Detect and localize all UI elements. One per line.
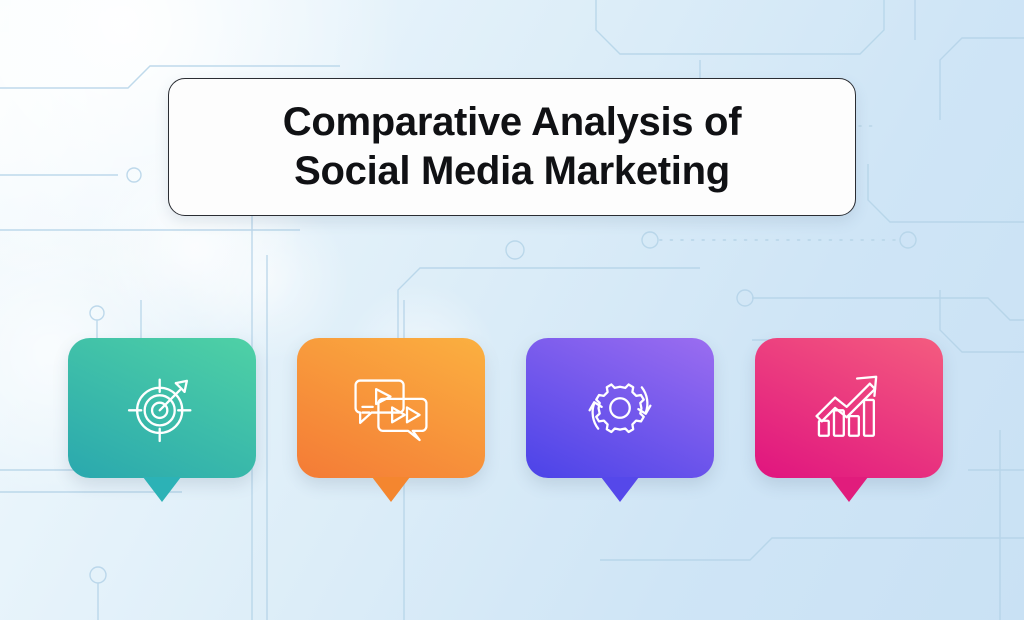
page-title-line-2: Social Media Marketing xyxy=(294,147,730,196)
info-card-content-and-communication[interactable]: Content and Communication xyxy=(297,338,485,478)
icon-bubble-objective-and-vision xyxy=(68,338,256,478)
gear-refresh-icon xyxy=(581,371,659,445)
target-arrow-icon xyxy=(125,371,199,445)
info-card-objective-and-vision[interactable]: Objective and Vision xyxy=(68,338,256,478)
bubble-tail-content-and-communication xyxy=(372,477,410,502)
info-card-long-term-impact[interactable]: Long-Term Impact xyxy=(755,338,943,478)
page-title-card: Comparative Analysis of Social Media Mar… xyxy=(168,78,856,216)
info-card-platform-algorithms[interactable]: Platform Algorithms xyxy=(526,338,714,478)
bubble-tail-platform-algorithms xyxy=(601,477,639,502)
bubble-tail-objective-and-vision xyxy=(143,477,181,502)
bubble-tail-long-term-impact xyxy=(830,477,868,502)
icon-bubble-platform-algorithms xyxy=(526,338,714,478)
page-title-line-1: Comparative Analysis of xyxy=(283,98,741,147)
icon-bubble-long-term-impact xyxy=(755,338,943,478)
icon-bubble-content-and-communication xyxy=(297,338,485,478)
growth-chart-arrow-icon xyxy=(810,371,888,445)
speech-bubbles-play-icon xyxy=(351,371,431,445)
